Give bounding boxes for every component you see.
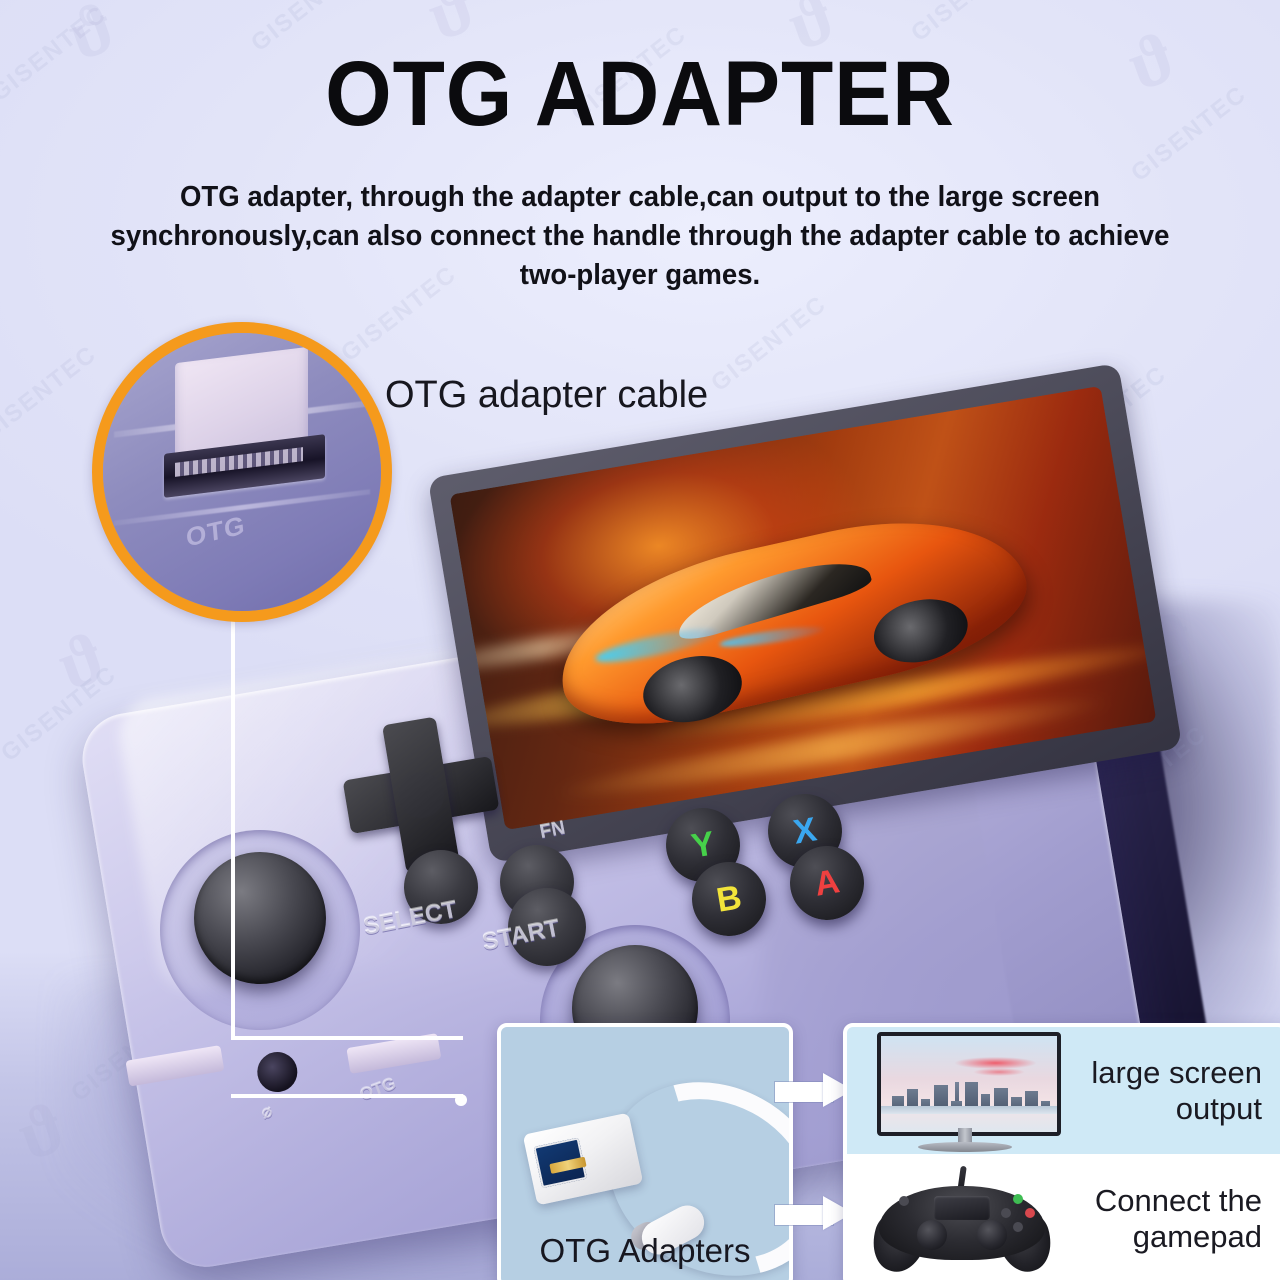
gamepad-icon <box>873 1160 1051 1278</box>
page-description: OTG adapter, through the adapter cable,c… <box>108 178 1172 295</box>
monitor-stand-base <box>918 1142 1012 1152</box>
large-screen-output-caption: large screen output <box>1091 1055 1262 1127</box>
gamepad-touchpad <box>934 1196 990 1220</box>
panel-large-screen-output: large screen output <box>847 1027 1280 1154</box>
gamepad-button-dark-a <box>1001 1208 1011 1218</box>
connect-gamepad-caption: Connect the gamepad <box>1095 1183 1262 1255</box>
watermark-text: GISENTEC <box>906 0 1033 48</box>
button-a-label: A <box>812 862 843 905</box>
usb-a-gold-contacts <box>549 1157 586 1174</box>
monitor-city-skyline <box>881 1070 1057 1114</box>
arrow-right-icon-top <box>775 1073 853 1107</box>
arrow-right-icon-bottom <box>775 1196 853 1230</box>
gamepad-button-green <box>1013 1194 1023 1204</box>
button-x-label: X <box>791 810 820 852</box>
panel-outputs: large screen output Connect the <box>843 1023 1280 1280</box>
panel-connect-gamepad: Connect the gamepad <box>847 1154 1280 1280</box>
product-infographic: GISENTEC GISENTEC GISENTEC GISENTEC GISE… <box>0 0 1280 1280</box>
gamepad-button-dark-b <box>1013 1222 1023 1232</box>
gamepad-dpad <box>899 1196 909 1206</box>
otg-port-callout: OTG <box>92 322 392 622</box>
callout-label: OTG adapter cable <box>385 374 708 417</box>
button-y-label: Y <box>689 824 718 866</box>
port-otg-label: OTG <box>357 1074 399 1106</box>
callout-leader-vertical <box>231 600 235 1040</box>
gamepad-button-red <box>1025 1208 1035 1218</box>
monitor-icon <box>877 1032 1053 1150</box>
page-title: OTG ADAPTER <box>45 48 1235 140</box>
monitor-screen <box>877 1032 1061 1136</box>
button-b-label: B <box>714 878 745 921</box>
callout-inner: OTG <box>103 333 381 611</box>
panel-otg-adapters: OTG Adapters <box>497 1023 793 1280</box>
usb-a-port-cavity <box>533 1137 587 1188</box>
callout-leader-horizontal <box>231 1036 463 1040</box>
gamepad-right-stick <box>977 1220 1007 1250</box>
otg-adapters-caption: OTG Adapters <box>501 1232 789 1270</box>
left-analog-stick[interactable] <box>194 852 326 984</box>
callout-leader-horizontal-2 <box>231 1094 463 1098</box>
gamepad-left-stick <box>917 1220 947 1250</box>
watermark-text: GISENTEC <box>706 290 833 397</box>
monitor-waterfront <box>881 1106 1057 1114</box>
port-hdmi[interactable] <box>125 1045 224 1086</box>
callout-otg-text: OTG <box>185 510 247 554</box>
port-headphone-jack[interactable] <box>254 1049 300 1095</box>
